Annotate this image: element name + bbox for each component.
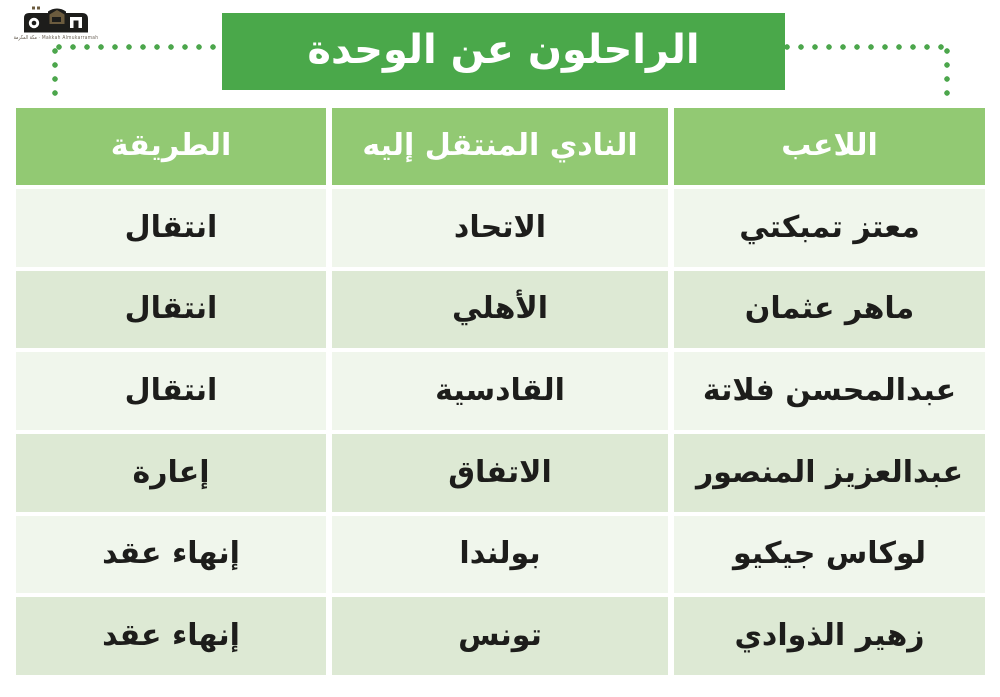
table-row: معتز تمبكتي الاتحاد انتقال xyxy=(16,189,985,267)
cell-player: عبدالمحسن فلاتة xyxy=(674,352,985,430)
table-header-row: اللاعب النادي المنتقل إليه الطريقة xyxy=(16,108,985,185)
cell-club: الأهلي xyxy=(332,271,668,349)
cell-club: القادسية xyxy=(332,352,668,430)
table-row: زهير الذوادي تونس إنهاء عقد xyxy=(16,597,985,675)
table-row: لوكاس جيكيو بولندا إنهاء عقد xyxy=(16,516,985,594)
cell-player: لوكاس جيكيو xyxy=(674,516,985,594)
page-title: الراحلون عن الوحدة xyxy=(307,30,699,74)
dotted-line-top-right xyxy=(780,44,950,50)
cell-club: بولندا xyxy=(332,516,668,594)
makkah-wordmark-icon xyxy=(8,4,104,38)
cell-method: إنهاء عقد xyxy=(16,597,326,675)
logo-subtitle: Makkah Almukarramah · مكة المكرمة xyxy=(8,35,104,41)
cell-method: انتقال xyxy=(16,352,326,430)
dotted-line-right xyxy=(944,44,950,100)
column-header-club: النادي المنتقل إليه xyxy=(332,108,668,185)
column-header-player: اللاعب xyxy=(674,108,985,185)
title-banner: الراحلون عن الوحدة xyxy=(222,13,785,90)
dotted-line-left xyxy=(52,44,58,100)
cell-club: الاتفاق xyxy=(332,434,668,512)
cell-player: ماهر عثمان xyxy=(674,271,985,349)
cell-method: انتقال xyxy=(16,189,326,267)
cell-club: تونس xyxy=(332,597,668,675)
makkah-logo: Makkah Almukarramah · مكة المكرمة xyxy=(8,4,104,48)
cell-player: عبدالعزيز المنصور xyxy=(674,434,985,512)
cell-method: إنهاء عقد xyxy=(16,516,326,594)
column-header-method: الطريقة xyxy=(16,108,326,185)
cell-method: انتقال xyxy=(16,271,326,349)
table-row: ماهر عثمان الأهلي انتقال xyxy=(16,271,985,349)
table-row: عبدالمحسن فلاتة القادسية انتقال xyxy=(16,352,985,430)
cell-player: معتز تمبكتي xyxy=(674,189,985,267)
cell-club: الاتحاد xyxy=(332,189,668,267)
cell-player: زهير الذوادي xyxy=(674,597,985,675)
dotted-line-top-left xyxy=(52,44,228,50)
departures-table: اللاعب النادي المنتقل إليه الطريقة معتز … xyxy=(16,108,985,675)
table-row: عبدالعزيز المنصور الاتفاق إعارة xyxy=(16,434,985,512)
cell-method: إعارة xyxy=(16,434,326,512)
infographic-page: Makkah Almukarramah · مكة المكرمة الراحل… xyxy=(0,0,1000,697)
